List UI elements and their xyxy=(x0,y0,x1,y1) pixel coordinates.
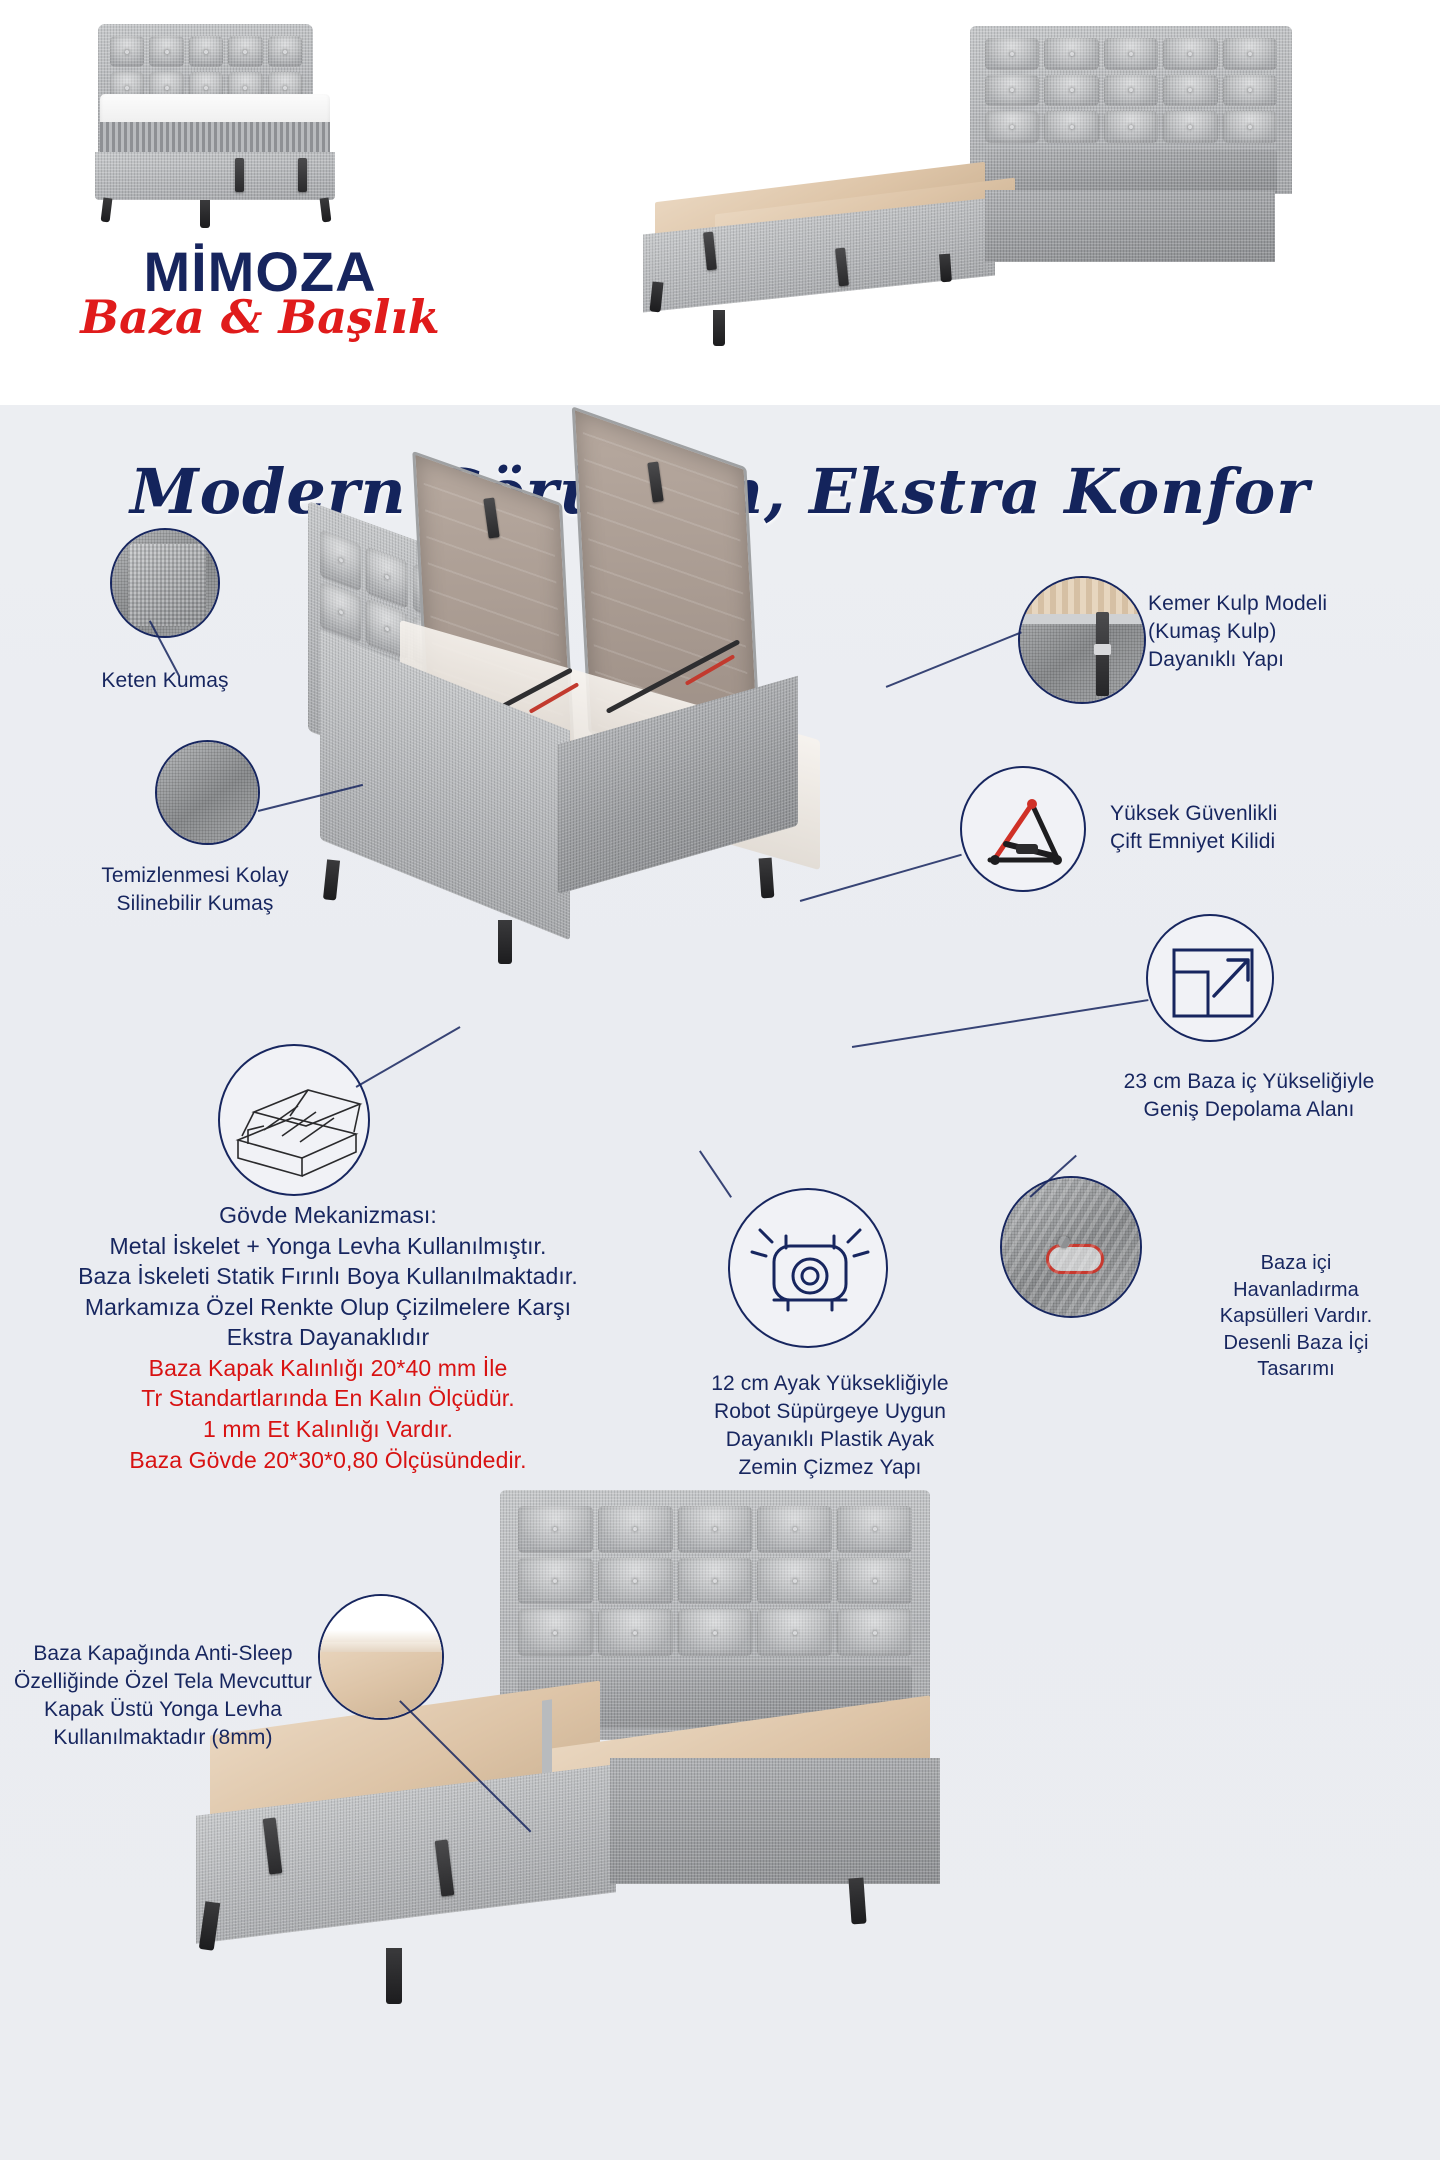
silinebilir-kumas-icon xyxy=(155,740,260,845)
depolama-label: 23 cm Baza iç Yükseliğiyle Geniş Depolam… xyxy=(1058,1068,1440,1124)
emniyet-line1: Yüksek Güvenlikli xyxy=(1110,800,1430,828)
storage-arrow-glyph xyxy=(1148,916,1274,1042)
brand-tagline: Baza & Başlık xyxy=(20,294,500,340)
havalandirma-label: Baza içi Havanladırma Kapsülleri Vardır.… xyxy=(1152,1250,1440,1383)
govde-navy-0: Gövde Mekanizması: xyxy=(18,1200,638,1231)
havalandirma-line2: Havanladırma xyxy=(1152,1277,1440,1304)
govde-navy-2: Baza İskeleti Statik Fırınlı Boya Kullan… xyxy=(18,1261,638,1292)
anti-sleep-line1: Baza Kapağında Anti-Sleep xyxy=(8,1640,318,1668)
govde-mekanizmasi-text: Gövde Mekanizması: Metal İskelet + Yonga… xyxy=(18,1200,638,1475)
keten-kumas-text: Keten Kumaş xyxy=(101,669,228,692)
keten-kumas-icon xyxy=(110,528,220,638)
brand-logo: MİMOZA Baza & Başlık xyxy=(20,245,500,340)
silinebilir-line1: Temizlenmesi Kolay xyxy=(45,862,345,890)
robot-vacuum-glyph xyxy=(730,1190,888,1348)
govde-navy-4: Ekstra Dayanaklıdır xyxy=(18,1322,638,1353)
govde-navy-3: Markamıza Özel Renkte Olup Çizilmelere K… xyxy=(18,1292,638,1323)
ayak-line1: 12 cm Ayak Yüksekliğiyle xyxy=(640,1370,1020,1398)
emniyet-line2: Çift Emniyet Kilidi xyxy=(1110,828,1430,856)
havalandirma-line3: Kapsülleri Vardır. xyxy=(1152,1303,1440,1330)
govde-mekanizmasi-icon xyxy=(218,1044,370,1196)
depolama-line2: Geniş Depolama Alanı xyxy=(1058,1096,1440,1124)
silinebilir-line2: Silinebilir Kumaş xyxy=(45,890,345,918)
govde-navy-1: Metal İskelet + Yonga Levha Kullanılmışt… xyxy=(18,1231,638,1262)
infographic-page: MİMOZA Baza & Başlık Modern Görünüm, Eks… xyxy=(0,0,1440,2160)
govde-red-0: Baza Kapak Kalınlığı 20*40 mm İle xyxy=(18,1353,638,1384)
anti-sleep-line3: Kapak Üstü Yonga Levha xyxy=(8,1696,318,1724)
anti-sleep-line4: Kullanılmaktadır (8mm) xyxy=(8,1724,318,1752)
center-storage-base-image xyxy=(330,640,890,1200)
ayak-robot-supurge-icon xyxy=(728,1188,888,1348)
gas-piston-lock-glyph xyxy=(962,768,1086,892)
anti-sleep-line2: Özelliğinde Özel Tela Mevcuttur xyxy=(8,1668,318,1696)
emniyet-kilidi-icon xyxy=(960,766,1086,892)
bottom-bed-image xyxy=(150,1490,1210,2110)
kemer-kulp-line2: (Kumaş Kulp) xyxy=(1148,618,1440,646)
kemer-kulp-label: Kemer Kulp Modeli (Kumaş Kulp) Dayanıklı… xyxy=(1148,590,1440,674)
havalandirma-line4: Desenli Baza İçi xyxy=(1152,1330,1440,1357)
havalandirma-line1: Baza içi xyxy=(1152,1250,1440,1277)
mechanism-frame-glyph xyxy=(220,1046,370,1196)
ayak-robot-supurge-label: 12 cm Ayak Yüksekliğiyle Robot Süpürgeye… xyxy=(640,1370,1020,1482)
anti-sleep-label: Baza Kapağında Anti-Sleep Özelliğinde Öz… xyxy=(8,1640,318,1752)
govde-red-1: Tr Standartlarında En Kalın Ölçüdür. xyxy=(18,1383,638,1414)
havalandirma-icon xyxy=(1000,1176,1142,1318)
anti-sleep-icon xyxy=(318,1594,444,1720)
keten-kumas-label: Keten Kumaş xyxy=(45,667,285,695)
hero-top-right-bed-image xyxy=(595,10,1425,360)
emniyet-kilidi-label: Yüksek Güvenlikli Çift Emniyet Kilidi xyxy=(1110,800,1430,856)
govde-red-2: 1 mm Et Kalınlığı Vardır. xyxy=(18,1414,638,1445)
kemer-kulp-line3: Dayanıklı Yapı xyxy=(1148,646,1440,674)
govde-red-3: Baza Gövde 20*30*0,80 Ölçüsündedir. xyxy=(18,1445,638,1476)
depolama-line1: 23 cm Baza iç Yükseliğiyle xyxy=(1058,1068,1440,1096)
ayak-line3: Dayanıklı Plastik Ayak xyxy=(640,1426,1020,1454)
ayak-line2: Robot Süpürgeye Uygun xyxy=(640,1398,1020,1426)
havalandirma-line5: Tasarımı xyxy=(1152,1356,1440,1383)
ayak-line4: Zemin Çizmez Yapı xyxy=(640,1454,1020,1482)
silinebilir-kumas-label: Temizlenmesi Kolay Silinebilir Kumaş xyxy=(45,862,345,918)
kemer-kulp-icon xyxy=(1018,576,1146,704)
kemer-kulp-line1: Kemer Kulp Modeli xyxy=(1148,590,1440,618)
depolama-icon xyxy=(1146,914,1274,1042)
